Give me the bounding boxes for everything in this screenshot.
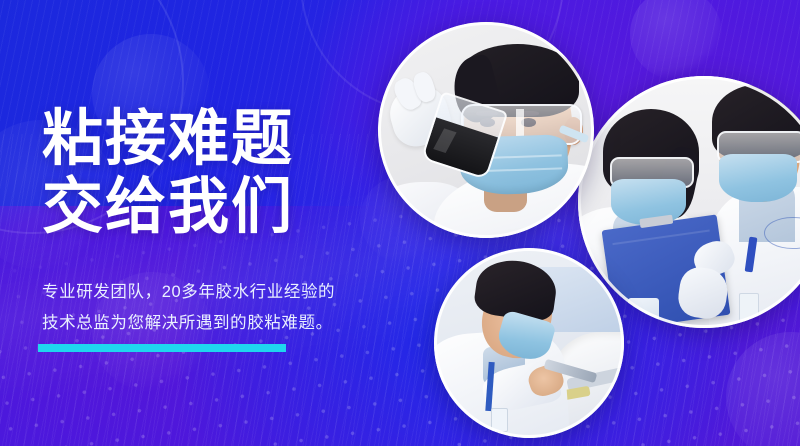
photo-technician-applying-glue-scene	[434, 248, 624, 438]
headline-underline-bar	[38, 344, 286, 352]
subtitle-line-2: 技术总监为您解决所遇到的胶粘难题。	[42, 308, 382, 339]
headline-line-1: 粘接难题	[42, 104, 372, 172]
photo-technician-applying-glue	[434, 248, 624, 438]
beaker-liquid	[423, 118, 497, 177]
subtitle-block: 专业研发团队，20多年胶水行业经验的 技术总监为您解决所遇到的胶粘难题。	[42, 277, 382, 339]
id-badge	[739, 293, 759, 323]
promo-banner: 粘接难题 交给我们 专业研发团队，20多年胶水行业经验的 技术总监为您解决所遇到…	[0, 0, 800, 446]
photo-chemist-beaker-scene	[378, 22, 594, 238]
surgical-mask-right-person	[719, 154, 797, 202]
headline-block: 粘接难题 交给我们	[42, 104, 372, 240]
subtitle-line-1: 专业研发团队，20多年胶水行业经验的	[42, 277, 382, 308]
id-badge	[491, 408, 508, 433]
glue-bottle	[628, 298, 658, 328]
photo-chemist-beaker	[378, 22, 594, 238]
headline-line-2: 交给我们	[42, 172, 372, 240]
